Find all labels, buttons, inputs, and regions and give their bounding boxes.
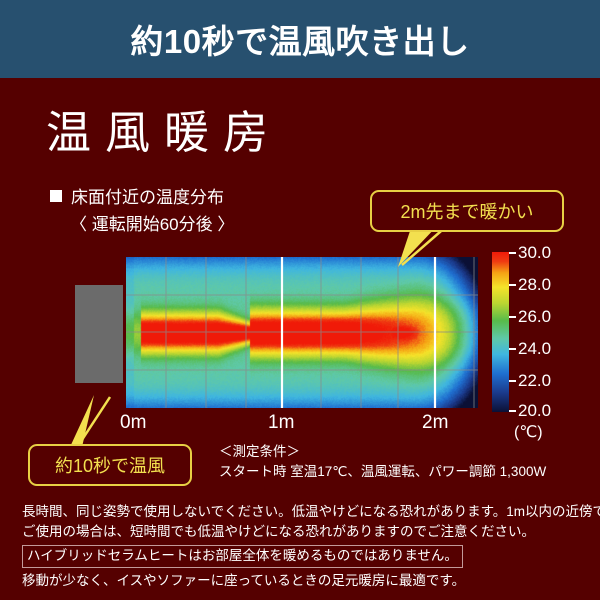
colorbar-label-28: 28.0 bbox=[518, 276, 551, 293]
colorbar-tick bbox=[509, 348, 516, 350]
axis-tick-1m: 1m bbox=[268, 412, 294, 434]
conditions-detail: スタート時 室温17℃、温風運転、パワー調節 1,300W bbox=[219, 462, 546, 482]
sub-caption-line1: 床面付近の温度分布 bbox=[71, 188, 224, 207]
thermal-heatmap-canvas bbox=[126, 257, 478, 408]
measurement-conditions: ＜測定条件＞ スタート時 室温17℃、温風運転、パワー調節 1,300W bbox=[219, 442, 546, 482]
colorbar-tick bbox=[509, 316, 516, 318]
callout-fast-warm-air: 約10秒で温風 bbox=[28, 444, 192, 486]
banner-title: 約10秒で温風吹き出し bbox=[0, 0, 600, 78]
square-bullet-icon bbox=[50, 190, 62, 202]
footnote-line-2: ご使用の場合は、短時間でも低温やけどになる恐れがありますのでご注意ください。 bbox=[22, 522, 582, 542]
colorbar-label-20: 20.0 bbox=[518, 402, 551, 419]
colorbar-label-26: 26.0 bbox=[518, 308, 551, 325]
colorbar-gradient bbox=[492, 252, 509, 412]
colorbar-label-30: 30.0 bbox=[518, 244, 551, 261]
heater-unit bbox=[75, 285, 123, 383]
footnote-line-3: 移動が少なく、イスやソファーに座っているときの足元暖房に最適です。 bbox=[22, 571, 582, 591]
colorbar-label-22: 22.0 bbox=[518, 372, 551, 389]
sub-caption: 床面付近の温度分布 〈 運転開始60分後 〉 bbox=[50, 184, 234, 238]
callout-far-reach: 2m先まで暖かい bbox=[370, 190, 564, 232]
colorbar-tick bbox=[509, 252, 516, 254]
colorbar-tick bbox=[509, 284, 516, 286]
thermal-heatmap bbox=[126, 257, 478, 408]
footnote-line-1: 長時間、同じ姿勢で使用しないでください。低温やけどになる恐れがあります。1m以内… bbox=[22, 502, 582, 522]
top-banner: 約10秒で温風吹き出し bbox=[0, 0, 600, 78]
axis-tick-2m: 2m bbox=[422, 412, 448, 434]
page-title: 温風暖房 bbox=[46, 96, 282, 161]
footnotes: 長時間、同じ姿勢で使用しないでください。低温やけどになる恐れがあります。1m以内… bbox=[22, 502, 582, 591]
infographic-page: 約10秒で温風吹き出し 温風暖房 床面付近の温度分布 〈 運転開始60分後 〉 bbox=[0, 0, 600, 600]
footnote-boxed-note: ハイブリッドセラムヒートはお部屋全体を暖めるものではありません。 bbox=[22, 545, 463, 568]
sub-caption-line2: 〈 運転開始60分後 〉 bbox=[50, 211, 234, 238]
colorbar-label-24: 24.0 bbox=[518, 340, 551, 357]
colorbar-tick bbox=[509, 380, 516, 382]
colorbar-unit-label: (℃) bbox=[514, 422, 543, 442]
conditions-heading: ＜測定条件＞ bbox=[219, 442, 546, 462]
colorbar-tick bbox=[509, 410, 516, 412]
